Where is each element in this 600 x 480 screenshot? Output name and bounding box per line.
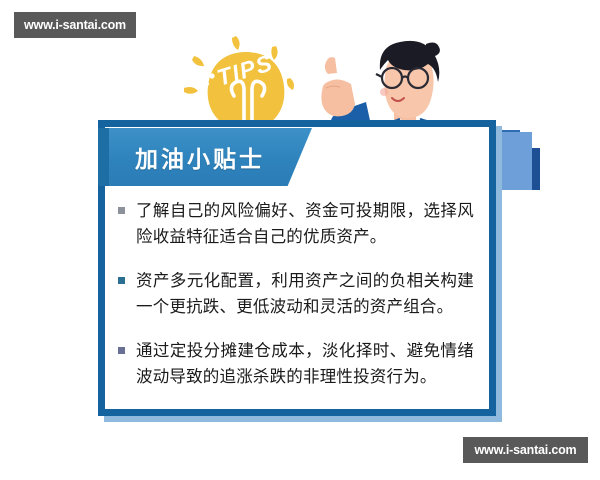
list-item: 资产多元化配置，利用资产之间的负相关构建一个更抗跌、更低波动和灵活的资产组合。 <box>118 268 474 320</box>
card-title-ribbon: 加油小贴士 <box>98 128 312 186</box>
bullet-marker-icon <box>118 347 125 354</box>
list-item: 通过定投分摊建仓成本，淡化择时、避免情绪波动导致的追涨杀跌的非理性投资行为。 <box>118 338 474 390</box>
tips-list: 了解自己的风险偏好、资金可投期限，选择风险收益特征适合自己的优质资产。 资产多元… <box>118 198 474 408</box>
tip-text: 资产多元化配置，利用资产之间的负相关构建一个更抗跌、更低波动和灵活的资产组合。 <box>136 268 474 320</box>
tip-text: 通过定投分摊建仓成本，淡化择时、避免情绪波动导致的追涨杀跌的非理性投资行为。 <box>136 338 474 390</box>
list-item: 了解自己的风险偏好、资金可投期限，选择风险收益特征适合自己的优质资产。 <box>118 198 474 250</box>
person-head <box>376 41 440 128</box>
watermark-top-left: www.i-santai.com <box>14 12 136 38</box>
page-title: 加油小贴士 <box>135 140 265 174</box>
tip-text: 了解自己的风险偏好、资金可投期限，选择风险收益特征适合自己的优质资产。 <box>136 198 474 250</box>
bullet-marker-icon <box>118 207 125 214</box>
watermark-bottom-right: www.i-santai.com <box>463 437 588 463</box>
bullet-marker-icon <box>118 277 125 284</box>
ribbon-body: 加油小贴士 <box>109 128 312 186</box>
